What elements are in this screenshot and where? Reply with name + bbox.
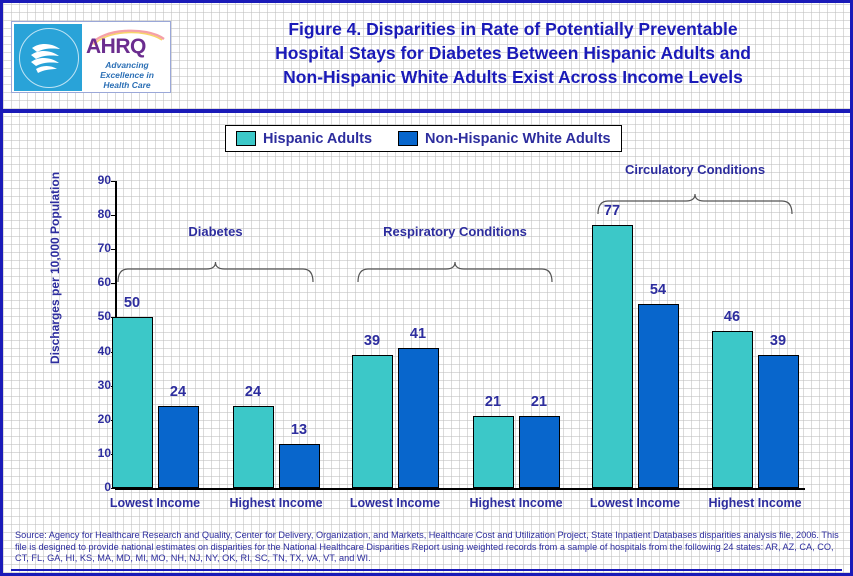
bar-value-label: 41	[390, 326, 447, 342]
x-axis-category-label: Highest Income	[451, 496, 581, 510]
chart-bar	[352, 355, 393, 488]
bar-value-label: 50	[104, 295, 161, 311]
y-axis-tick-mark	[111, 215, 116, 216]
chart-bar	[279, 444, 320, 488]
chart-bar	[758, 355, 799, 488]
y-axis-tick-label: 20	[85, 412, 111, 426]
bar-value-label: 21	[511, 394, 568, 410]
chart-bar	[233, 406, 274, 488]
x-axis-category-label: Highest Income	[211, 496, 341, 510]
y-axis-tick-mark	[111, 181, 116, 182]
chart-bar	[519, 416, 560, 488]
footer-divider	[11, 569, 842, 571]
chart-bar	[473, 416, 514, 488]
figure-page: AHRQ Advancing Excellence in Health Care…	[0, 0, 853, 576]
y-axis-tick-label: 30	[85, 378, 111, 392]
bar-value-label: 13	[271, 422, 328, 438]
y-axis-tick-label: 90	[85, 173, 111, 187]
x-axis-category-label: Highest Income	[690, 496, 820, 510]
y-axis-tick-label: 50	[85, 309, 111, 323]
y-axis-tick-label: 70	[85, 241, 111, 255]
chart-bar	[638, 304, 679, 488]
group-brace-icon	[116, 261, 315, 283]
y-axis-tick-mark	[111, 488, 116, 489]
x-axis-category-label: Lowest Income	[330, 496, 460, 510]
source-note: Source: Agency for Healthcare Research a…	[15, 530, 845, 565]
y-axis-tick-label: 0	[85, 480, 111, 494]
y-axis-tick-label: 80	[85, 207, 111, 221]
group-label: Circulatory Conditions	[585, 162, 805, 177]
chart-bar	[158, 406, 199, 488]
group-brace-icon	[596, 193, 794, 215]
y-axis-tick-mark	[111, 249, 116, 250]
y-axis-tick-label: 40	[85, 344, 111, 358]
chart-bar	[592, 225, 633, 488]
y-axis-tick-label: 60	[85, 275, 111, 289]
x-axis-line	[115, 488, 805, 490]
chart-bar	[112, 317, 153, 488]
bar-value-label: 46	[704, 309, 761, 325]
y-axis-tick-mark	[111, 283, 116, 284]
bar-value-label: 54	[630, 282, 687, 298]
chart-plot-area: Discharges per 10,000 Population 0102030…	[3, 3, 850, 573]
chart-bar	[712, 331, 753, 488]
bar-value-label: 24	[150, 384, 207, 400]
bar-value-label: 24	[225, 384, 282, 400]
y-axis-tick-label: 10	[85, 446, 111, 460]
bar-value-label: 39	[750, 333, 807, 349]
chart-bar	[398, 348, 439, 488]
group-label: Respiratory Conditions	[345, 224, 565, 239]
x-axis-category-label: Lowest Income	[90, 496, 220, 510]
group-label: Diabetes	[106, 224, 326, 239]
x-axis-category-label: Lowest Income	[570, 496, 700, 510]
group-brace-icon	[356, 261, 554, 283]
y-axis-title: Discharges per 10,000 Population	[48, 158, 62, 378]
